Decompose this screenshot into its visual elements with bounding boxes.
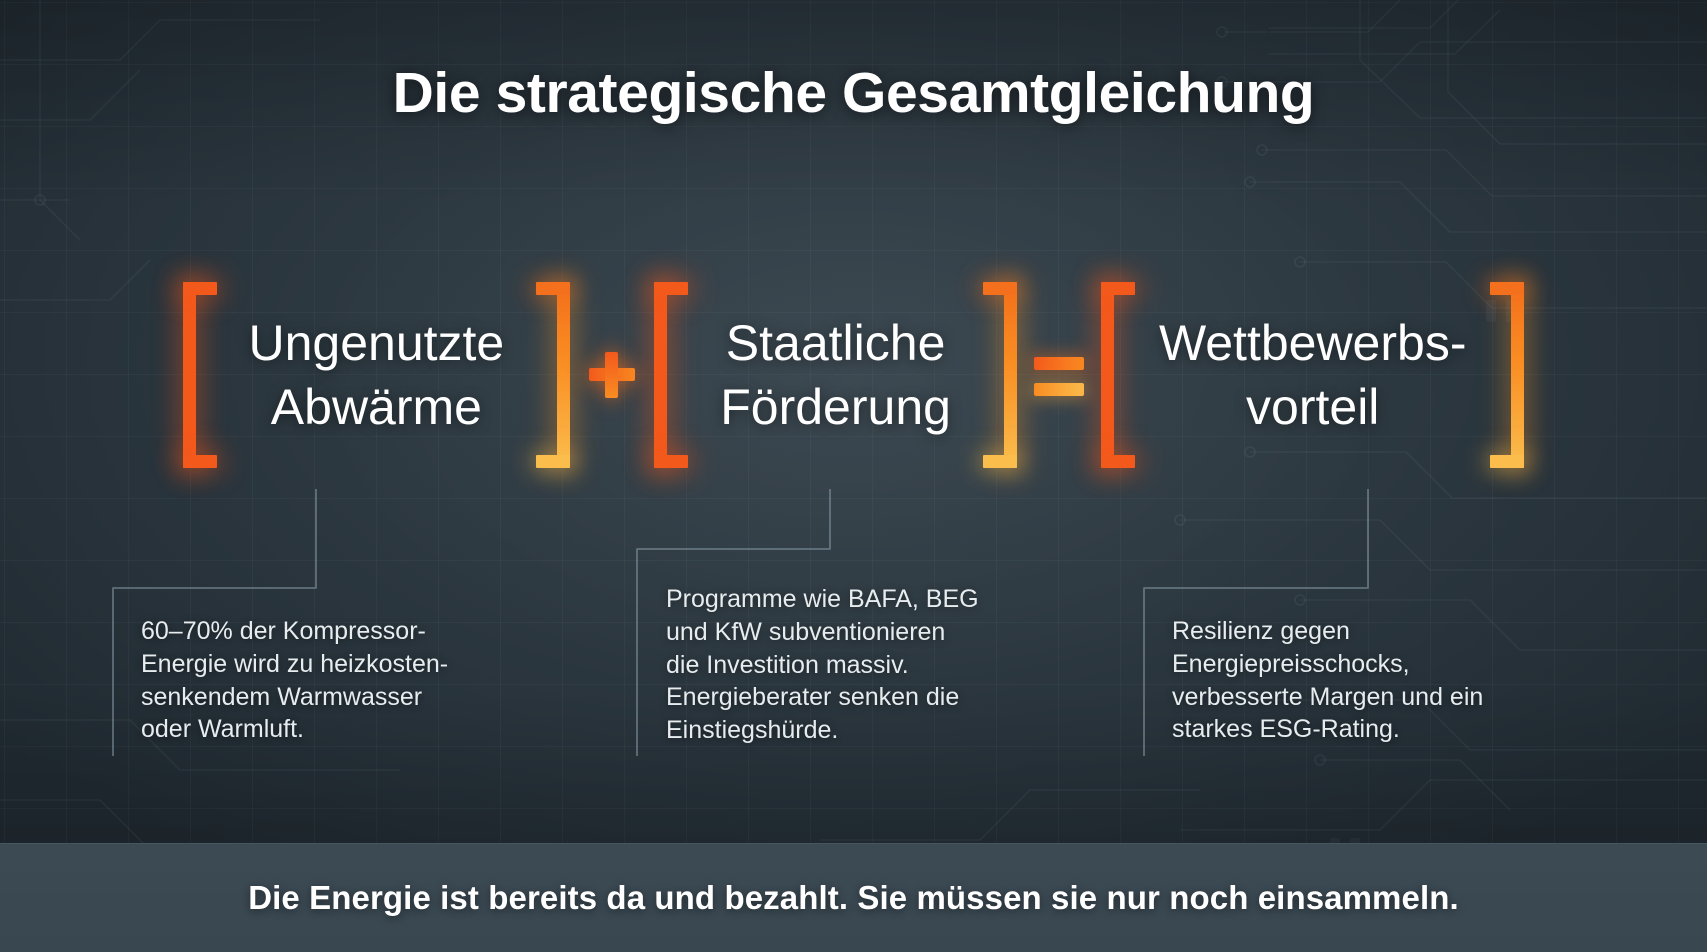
equation-term-state-funding: Staatliche Förderung xyxy=(644,282,1027,468)
term-label-3: Wettbewerbs- vorteil xyxy=(1145,311,1481,439)
equation-term-unused-waste-heat: Ungenutzte Abwärme xyxy=(173,282,581,468)
term-label-2: Staatliche Förderung xyxy=(698,311,973,439)
connector-lines xyxy=(0,0,1707,952)
note-unused-waste-heat: 60–70% der Kompressor- Energie wird zu h… xyxy=(141,615,541,746)
bracket-close-icon xyxy=(973,282,1017,468)
bracket-close-icon xyxy=(1480,282,1524,468)
note-state-funding: Programme wie BAFA, BEG und KfW subventi… xyxy=(666,583,1066,747)
slide-canvas: Die strategische Gesamtgleichung Ungenut… xyxy=(0,0,1707,952)
footer-caption: Die Energie ist bereits da und bezahlt. … xyxy=(248,879,1459,917)
equation-term-competitive-advantage: Wettbewerbs- vorteil xyxy=(1091,282,1535,468)
background-grid xyxy=(0,0,1707,952)
equation-row: Ungenutzte Abwärme Staatliche Förderung xyxy=(0,282,1707,468)
footer-band: Die Energie ist bereits da und bezahlt. … xyxy=(0,843,1707,952)
operator-equals-icon xyxy=(1027,315,1091,435)
note-competitive-advantage: Resilienz gegen Energiepreisschocks, ver… xyxy=(1172,615,1572,746)
operator-plus-icon xyxy=(580,315,644,435)
bracket-close-icon xyxy=(526,282,570,468)
bracket-open-icon xyxy=(1101,282,1145,468)
background-vignette xyxy=(0,0,1707,952)
bracket-open-icon xyxy=(183,282,227,468)
bracket-open-icon xyxy=(654,282,698,468)
page-title: Die strategische Gesamtgleichung xyxy=(0,60,1707,126)
background-circuit-pattern xyxy=(0,0,1707,952)
term-label-1: Ungenutzte Abwärme xyxy=(227,311,527,439)
